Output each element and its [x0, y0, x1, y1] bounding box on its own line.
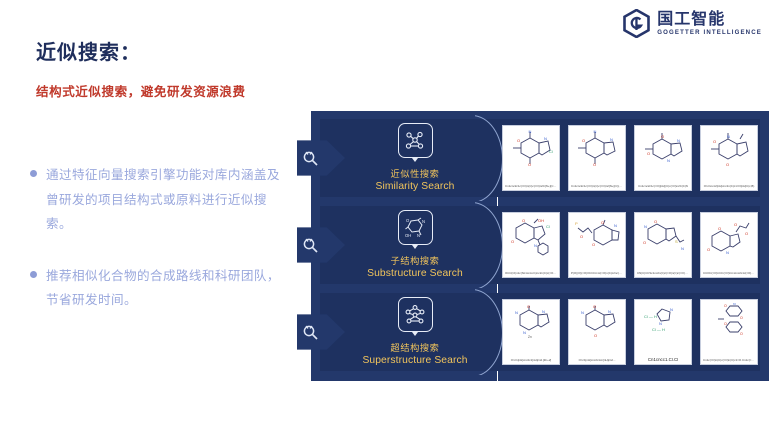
svg-text:O: O [713, 139, 716, 144]
search-type-label-cn: 子结构搜索 [391, 253, 440, 267]
svg-text:N: N [610, 137, 613, 142]
svg-text:N: N [529, 129, 532, 134]
bullet-dot-icon [30, 271, 37, 278]
smiles-caption: Cn1cnc2c1c(=O)n(C)c(=O)n2[N+](C)(C)C [571, 185, 623, 188]
list-item: 推荐相似化合物的合成路线和科研团队，节省研发时间。 [30, 264, 290, 313]
svg-text:O: O [647, 151, 650, 156]
list-item: 通过特征向量搜索引擎功能对库内涵盖及曾研发的项目结构式或原料进行近似搜索。 [30, 163, 290, 237]
svg-text:OH: OH [538, 218, 544, 223]
bullet-list: 通过特征向量搜索引擎功能对库内涵盖及曾研发的项目结构式或原料进行近似搜索。 推荐… [30, 163, 290, 340]
svg-text:N: N [681, 246, 684, 251]
svg-text:O: O [528, 162, 531, 167]
svg-text:N: N [614, 223, 617, 228]
smiles-caption: O=c1[nH]cnc2c1cn[nH]cn2... [571, 359, 623, 362]
svg-text:N: N [733, 303, 736, 306]
svg-text:N: N [667, 158, 670, 163]
smiles-caption: O=c1ncc2[nH]cnc2n(C)c1=O[nH]C(c,B) [703, 185, 755, 188]
svg-text:N: N [581, 310, 584, 315]
result-card[interactable]: N N O O Cn1cnc2c1c(=O)n(C)c(=O)n2[N+](C)… [568, 125, 626, 191]
svg-text:O: O [726, 162, 729, 167]
search-row-similarity[interactable]: 近似性搜索 Similarity Search N N O O Cl Cn1cn… [320, 119, 760, 197]
smiles-caption: OCC(Cl)n1c(Nc1ccccc1)nc2n(C)c(=O)n(C)c..… [505, 272, 557, 275]
smiles-caption: Cn1cncc1.Cl.Cl [637, 358, 689, 362]
molecule-graph-icon [398, 297, 433, 332]
svg-text:N: N [515, 310, 518, 315]
result-card[interactable]: O N O N Cn1cnc2c1c(=O)[nH](C)c(=O)n2C(C)… [634, 125, 692, 191]
result-card[interactable]: P O O O N P(O)(O)(=O)OCCCn1c(=O)n(C)c2nc… [568, 212, 626, 278]
ring-substructure-icon: O N OH N [398, 210, 433, 245]
result-card-list: N N O O Cl Cn1cnc2c1c(=O)n(C)c(=O)n2C[N+… [502, 125, 758, 191]
search-row-superstructure[interactable]: 超结构搜索 Superstructure Search O N N N Zn O… [320, 293, 760, 371]
smiles-caption: O=c1[nH]cnc2c1[nH]cn2.[Zn+2] [505, 359, 557, 362]
svg-text:O: O [724, 304, 727, 308]
svg-text:O: O [592, 242, 595, 247]
svg-text:O: O [517, 138, 520, 143]
svg-text:OH: OH [405, 233, 411, 238]
result-card[interactable]: N O O O=c1ncc2[nH]cnc2n(C)c1=O[nH]C(c,B) [700, 125, 758, 191]
search-type-label-en: Superstructure Search [362, 355, 467, 366]
svg-text:O: O [661, 134, 664, 139]
svg-text:Cl: Cl [549, 149, 553, 154]
svg-text:P: P [575, 221, 578, 226]
svg-text:O: O [527, 304, 530, 309]
magnifier-arrow-icon [297, 136, 345, 180]
svg-text:O: O [511, 239, 514, 244]
search-type-label-en: Substructure Search [367, 268, 463, 279]
smiles-caption: CCOC(=O)CCC(=O)Cn1cnc2c1c(=O)n(C)c(=O)n2… [703, 272, 755, 275]
page-title: 近似搜索： [36, 36, 141, 65]
svg-text:O: O [580, 234, 583, 239]
divider-arc [475, 202, 505, 288]
logo-name-cn: 国工智能 [657, 11, 762, 27]
svg-text:O: O [740, 316, 743, 320]
svg-text:O: O [654, 219, 657, 224]
search-type-badge: 近似性搜索 Similarity Search [356, 123, 474, 193]
svg-text:N: N [594, 129, 597, 134]
divider-arc [475, 115, 505, 201]
svg-text:S: S [675, 239, 678, 244]
smiles-caption: P(O)(O)(=O)OCCCn1c(=O)n(C)c2nc(Br)n(CC)c… [571, 272, 623, 275]
magnifier-arrow-icon [297, 310, 345, 354]
result-card[interactable]: O N N O O=c1[nH]cnc2c1cn[nH]cn2... [568, 299, 626, 365]
search-type-label-cn: 近似性搜索 [391, 166, 440, 180]
svg-text:O: O [643, 240, 646, 245]
result-card[interactable]: O O O O N CCOC(=O)CCC(=O)Cn1cnc2c1c(=O)n… [700, 212, 758, 278]
svg-text:N: N [523, 330, 526, 335]
svg-text:N: N [608, 309, 611, 314]
svg-text:O: O [718, 226, 721, 231]
svg-text:N: N [677, 138, 680, 143]
smiles-caption: Cn1cnc2c1c(=O)[nH](C)c(=O)n2C(C)N [637, 185, 689, 188]
svg-text:O: O [522, 218, 525, 223]
svg-text:N: N [644, 224, 647, 229]
bullet-text: 通过特征向量搜索引擎功能对库内涵盖及曾研发的项目结构式或原料进行近似搜索。 [46, 163, 290, 237]
svg-text:Zn: Zn [528, 335, 532, 339]
brand-logo: 国工智能 GOGETTER INTELLIGENCE [623, 9, 762, 38]
search-types-panel: 近似性搜索 Similarity Search N N O O Cl Cn1cn… [311, 111, 769, 381]
result-card[interactable]: N N O O Cl Cn1cnc2c1c(=O)n(C)c(=O)n2C[N+… [502, 125, 560, 191]
svg-text:N: N [542, 309, 545, 314]
svg-text:N: N [726, 250, 729, 255]
svg-text:N: N [670, 307, 673, 312]
svg-text:O: O [594, 333, 597, 338]
bullet-dot-icon [30, 170, 37, 177]
search-type-label-cn: 超结构搜索 [391, 340, 440, 354]
svg-text:N: N [417, 233, 420, 238]
svg-text:N: N [534, 243, 537, 248]
search-type-label-en: Similarity Search [376, 181, 455, 192]
svg-text:O: O [740, 332, 743, 336]
smiles-caption: CN(C)CCSc1nc2n(C)c(=O)n(C)c(=O)c2n1C [637, 272, 689, 275]
svg-text:O: O [707, 247, 710, 252]
hexagon-g-icon [623, 9, 650, 38]
result-card-list: O O OH Cl N OCC(Cl)n1c(Nc1ccccc1)nc2n(C)… [502, 212, 758, 278]
divider-arc [475, 289, 505, 375]
svg-text:N: N [422, 219, 425, 224]
result-card[interactable]: O O OH Cl N OCC(Cl)n1c(Nc1ccccc1)nc2n(C)… [502, 212, 560, 278]
result-card[interactable]: O O N S N CN(C)CCSc1nc2n(C)c(=O)n(C)c(=O… [634, 212, 692, 278]
molecule-graph-icon [398, 123, 433, 158]
result-card[interactable]: O O N O O Cn1c(=O)n(C)c(=O)n(C)c1=O.Cn1c… [700, 299, 758, 365]
svg-text:N: N [544, 136, 547, 141]
logo-name-en: GOGETTER INTELLIGENCE [657, 30, 762, 36]
svg-text:Cl: Cl [546, 224, 550, 229]
svg-text:Cl — H: Cl — H [652, 327, 665, 332]
svg-text:O: O [724, 322, 727, 326]
svg-text:O: O [745, 231, 748, 236]
svg-text:O: O [593, 304, 596, 309]
page-subtitle: 结构式近似搜索，避免研发资源浪费 [36, 81, 246, 100]
search-row-substructure[interactable]: O N OH N 子结构搜索 Substructure Search O O O… [320, 206, 760, 284]
svg-text:Cl — H: Cl — H [644, 314, 657, 319]
svg-text:O: O [593, 162, 596, 167]
svg-text:N: N [659, 321, 662, 326]
smiles-caption: Cn1c(=O)n(C)c(=O)n(C)c1=O.Cn1c(=O)n(C)c(… [703, 359, 755, 362]
bullet-text: 推荐相似化合物的合成路线和科研团队，节省研发时间。 [46, 264, 290, 313]
svg-text:O: O [406, 218, 410, 223]
svg-text:O: O [601, 220, 604, 225]
svg-text:O: O [734, 222, 737, 227]
magnifier-arrow-icon [297, 223, 345, 267]
svg-text:N: N [727, 134, 730, 139]
result-card[interactable]: N N Cl — H Cl — H Cn1cncc1.Cl.Cl [634, 299, 692, 365]
result-card[interactable]: O N N N Zn O=c1[nH]cnc2c1[nH]cn2.[Zn+2] [502, 299, 560, 365]
result-card-list: O N N N Zn O=c1[nH]cnc2c1[nH]cn2.[Zn+2] … [502, 299, 758, 365]
search-type-badge: 超结构搜索 Superstructure Search [356, 297, 474, 367]
svg-text:O: O [582, 138, 585, 143]
search-type-badge: O N OH N 子结构搜索 Substructure Search [356, 210, 474, 280]
smiles-caption: Cn1cnc2c1c(=O)n(C)c(=O)n2C[N+](C)(C)C [505, 185, 557, 188]
